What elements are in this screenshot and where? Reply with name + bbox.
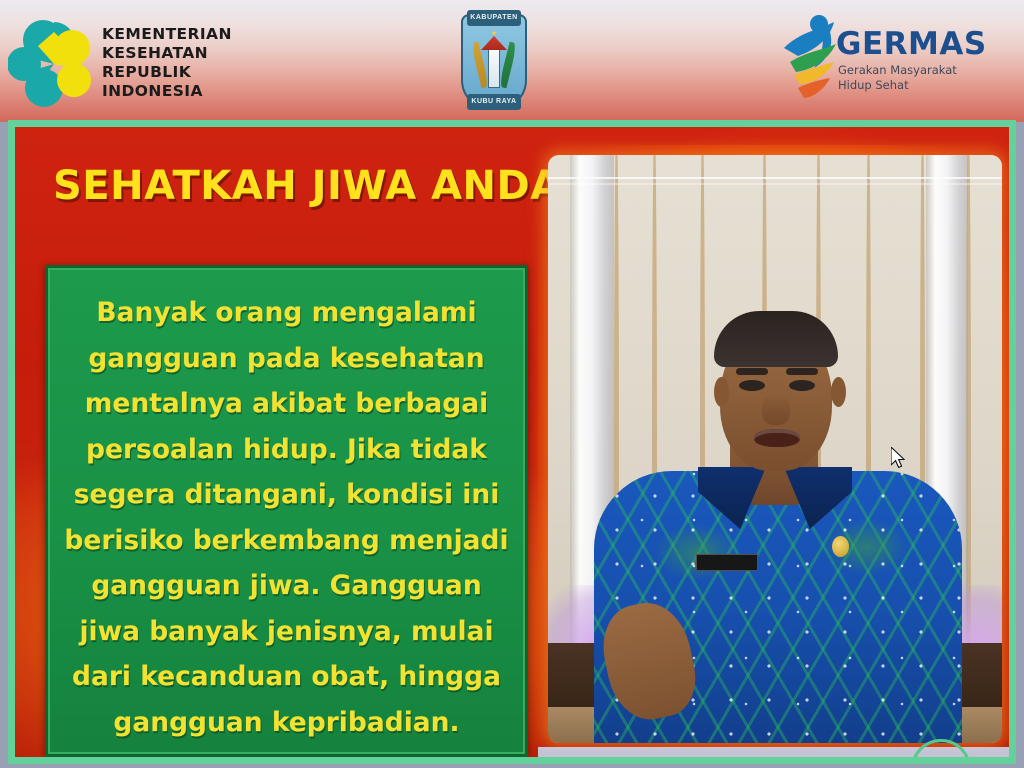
message-box: Banyak orang mengalami gangguan pada kes… <box>45 265 528 757</box>
mouth <box>754 429 800 447</box>
slide-body: SEHATKAH JIWA ANDA? Banyak orang mengala… <box>15 127 1009 757</box>
video-panel[interactable] <box>548 155 1002 743</box>
eye-left <box>739 380 765 391</box>
eye-right <box>789 380 815 391</box>
emblem-tower <box>488 44 500 88</box>
header-banner: KEMENTERIAN KESEHATAN REPUBLIK INDONESIA… <box>0 0 1024 122</box>
kabupaten-kubu-raya-emblem-icon: KABUPATEN KUBU RAYA <box>455 8 533 116</box>
eyebrow-right <box>786 368 818 375</box>
lapel-pin <box>832 536 849 557</box>
page-title-text: SEHATKAH JIWA ANDA <box>53 163 562 209</box>
message-text: Banyak orang mengalami gangguan pada kes… <box>64 290 509 745</box>
emblem-roof <box>481 36 507 50</box>
kemenkes-line-3: REPUBLIK <box>102 63 232 82</box>
germas-title: GERMAS <box>836 26 987 62</box>
hair <box>714 311 838 367</box>
germas-subtitle: Gerakan Masyarakat Hidup Sehat <box>838 63 957 92</box>
ear-left <box>714 377 729 407</box>
germas-logo: GERMAS Gerakan Masyarakat Hidup Sehat <box>778 12 978 110</box>
germas-subtitle-line-1: Gerakan Masyarakat <box>838 63 957 78</box>
kemenkes-logo: KEMENTERIAN KESEHATAN REPUBLIK INDONESIA <box>8 14 198 114</box>
slide-frame: SEHATKAH JIWA ANDA? Banyak orang mengala… <box>8 120 1016 764</box>
name-badge <box>696 554 758 571</box>
germas-subtitle-line-2: Hidup Sehat <box>838 78 957 93</box>
emblem-star <box>491 30 497 36</box>
page-title: SEHATKAH JIWA ANDA? <box>53 163 580 209</box>
arrow-cursor <box>891 447 907 471</box>
kemenkes-wordmark: KEMENTERIAN KESEHATAN REPUBLIK INDONESIA <box>102 25 232 101</box>
kemenkes-line-4: INDONESIA <box>102 82 232 101</box>
emblem-bottom-band: KUBU RAYA <box>467 94 521 110</box>
kemenkes-line-1: KEMENTERIAN <box>102 25 232 44</box>
kemenkes-flower-icon <box>8 18 100 110</box>
nose <box>762 395 790 425</box>
emblem-inner-art <box>475 30 513 90</box>
eyebrow-left <box>736 368 768 375</box>
kemenkes-line-2: KESEHATAN <box>102 44 232 63</box>
emblem-top-band: KABUPATEN <box>467 10 521 26</box>
ear-right <box>831 377 846 407</box>
speaker-figure <box>548 155 1002 743</box>
